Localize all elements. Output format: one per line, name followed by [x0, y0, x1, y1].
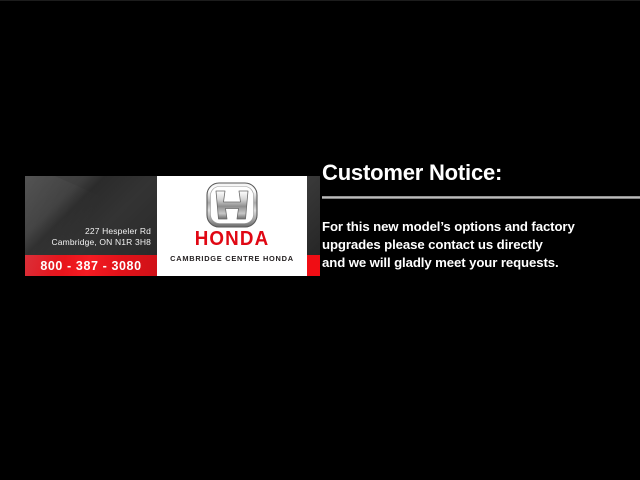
- notice-body-line-1: For this new model’s options and factory: [322, 218, 622, 236]
- dealer-address-line1: 227 Hespeler Rd: [85, 226, 151, 237]
- notice-body-line-3: and we will gladly meet your requests.: [322, 254, 622, 272]
- dealer-phone-number[interactable]: 800 - 387 - 3080: [25, 255, 157, 276]
- dealer-phone-bar[interactable]: 800 - 387 - 3080: [25, 255, 157, 276]
- dealer-logo-panel: HONDA CAMBRIDGE CENTRE HONDA: [157, 176, 307, 276]
- honda-wordmark: HONDA: [162, 228, 303, 251]
- honda-h-emblem-icon: [206, 182, 258, 228]
- notice-divider: [322, 196, 640, 199]
- notice-title: Customer Notice:: [322, 160, 640, 186]
- dealer-name-text: CAMBRIDGE CENTRE HONDA: [157, 254, 307, 263]
- customer-notice-panel: Customer Notice: For this new model’s op…: [322, 160, 640, 272]
- dealer-banner[interactable]: 227 Hespeler Rd Cambridge, ON N1R 3H8 80…: [25, 176, 295, 276]
- notice-body-line-2: upgrades please contact us directly: [322, 236, 622, 254]
- dealer-address-line2: Cambridge, ON N1R 3H8: [51, 237, 151, 248]
- advertisement-slide: 227 Hespeler Rd Cambridge, ON N1R 3H8 80…: [0, 0, 640, 480]
- top-border-line: [0, 0, 640, 1]
- banner-right-edge-red: [307, 255, 320, 276]
- dealer-contact-panel: 227 Hespeler Rd Cambridge, ON N1R 3H8: [25, 176, 157, 255]
- notice-body: For this new model’s options and factory…: [322, 218, 622, 272]
- banner-right-edge-dark: [307, 176, 320, 255]
